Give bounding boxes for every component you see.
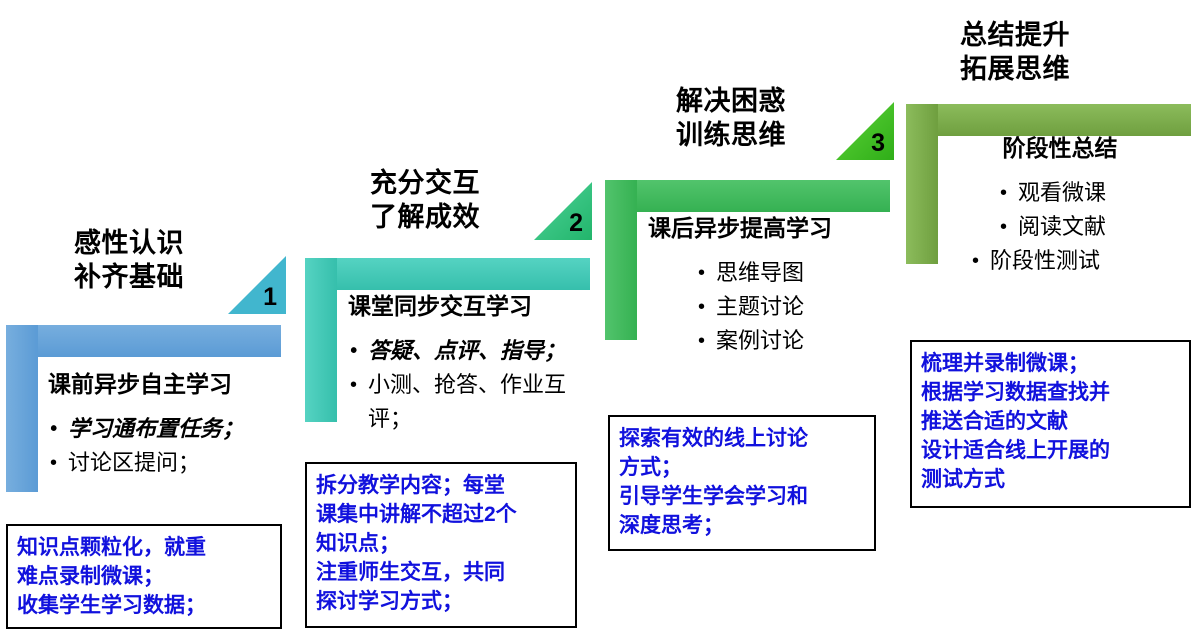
triangle-icon [534, 182, 592, 240]
note-line: 探索有效的线上讨论 [619, 424, 865, 453]
bracket-left-bar [6, 325, 38, 492]
stage-4-bullets: 观看微课 阅读文献 阶段性测试 [950, 176, 1200, 278]
stage-4-note-box: 梳理并录制微课； 根据学习数据查找并 推送合适的文献 设计适合线上开展的 测试方… [910, 340, 1191, 508]
note-line: 知识点颗粒化，就重 [17, 533, 271, 562]
stage-1-number: 1 [263, 285, 277, 310]
stage-2-card-title: 课堂同步交互学习 [348, 292, 588, 320]
bracket-top-bar [906, 104, 1191, 136]
triangle-icon [228, 256, 286, 314]
note-line: 难点录制微课； [17, 562, 271, 591]
stage-2-card: 课堂同步交互学习 答疑、点评、指导； 小测、抢答、作业互评； [348, 292, 588, 436]
stage-4-card: 阶段性总结 观看微课 阅读文献 阶段性测试 [950, 134, 1200, 278]
list-item: 讨论区提问； [48, 446, 288, 480]
stage-3-number: 3 [871, 131, 885, 156]
stage-3-note-box: 探索有效的线上讨论 方式； 引导学生学会学习和 深度思考； [608, 415, 876, 551]
stage-4-heading-line-2: 拓展思维 [960, 52, 1070, 86]
list-item: 小测、抢答、作业互评； [348, 368, 588, 436]
stage-2-bullets: 答疑、点评、指导； 小测、抢答、作业互评； [348, 334, 588, 436]
note-line: 推送合适的文献 [921, 407, 1180, 436]
note-line: 探讨学习方式； [316, 587, 566, 616]
bracket-top-bar [6, 325, 281, 357]
bracket-top-bar [305, 258, 590, 290]
note-line: 深度思考； [619, 511, 865, 540]
stage-1-card: 课前异步自主学习 学习通布置任务； 讨论区提问； [48, 370, 288, 480]
note-line: 课集中讲解不超过2个 [316, 500, 566, 529]
note-line: 根据学习数据查找并 [921, 378, 1180, 407]
note-line: 注重师生交互，共同 [316, 558, 566, 587]
list-item: 思维导图 [696, 256, 898, 290]
stage-2-heading-line-1: 充分交互 [370, 166, 480, 200]
bracket-top-bar [605, 180, 890, 212]
bracket-left-bar [605, 180, 637, 340]
stage-3-number-badge: 3 [836, 102, 894, 160]
bracket-left-bar [305, 258, 337, 422]
stage-1-bullets: 学习通布置任务； 讨论区提问； [48, 412, 288, 480]
stage-1-number-badge: 1 [228, 256, 286, 314]
bracket-left-bar [906, 104, 938, 264]
triangle-icon [836, 102, 894, 160]
stage-3-card-title: 课后异步提高学习 [648, 214, 898, 242]
note-line: 引导学生学会学习和 [619, 482, 865, 511]
stage-1-card-title: 课前异步自主学习 [48, 370, 288, 398]
stage-2-heading: 充分交互 了解成效 [370, 166, 480, 234]
note-line: 知识点； [316, 529, 566, 558]
note-line: 设计适合线上开展的 [921, 436, 1180, 465]
stage-1-note-box: 知识点颗粒化，就重 难点录制微课； 收集学生学习数据； [6, 524, 282, 629]
stage-3-heading-line-1: 解决困惑 [676, 84, 786, 118]
list-item: 阅读文献 [998, 210, 1200, 244]
stage-1-heading: 感性认识 补齐基础 [74, 226, 184, 294]
stage-4-card-title: 阶段性总结 [950, 134, 1200, 162]
list-item: 学习通布置任务； [48, 412, 288, 446]
list-item: 案例讨论 [696, 324, 898, 358]
note-line: 测试方式 [921, 465, 1180, 494]
stage-4-heading: 总结提升 拓展思维 [960, 18, 1070, 86]
stage-3-heading: 解决困惑 训练思维 [676, 84, 786, 152]
stage-3-bullets: 思维导图 主题讨论 案例讨论 [648, 256, 898, 358]
list-item: 答疑、点评、指导； [348, 334, 588, 368]
stage-1-heading-line-1: 感性认识 [74, 226, 184, 260]
list-item: 观看微课 [998, 176, 1200, 210]
list-item: 主题讨论 [696, 290, 898, 324]
stage-2-number: 2 [569, 211, 583, 236]
note-line: 拆分教学内容；每堂 [316, 471, 566, 500]
note-line: 梳理并录制微课； [921, 349, 1180, 378]
stage-3-heading-line-2: 训练思维 [676, 118, 786, 152]
note-line: 方式； [619, 453, 865, 482]
stage-2-note-box: 拆分教学内容；每堂 课集中讲解不超过2个 知识点； 注重师生交互，共同 探讨学习… [305, 462, 577, 628]
stage-1-heading-line-2: 补齐基础 [74, 260, 184, 294]
stage-2-number-badge: 2 [534, 182, 592, 240]
list-item: 阶段性测试 [970, 244, 1200, 278]
stage-2-heading-line-2: 了解成效 [370, 200, 480, 234]
stage-4-heading-line-1: 总结提升 [960, 18, 1070, 52]
note-line: 收集学生学习数据； [17, 591, 271, 620]
stage-3-card: 课后异步提高学习 思维导图 主题讨论 案例讨论 [648, 214, 898, 358]
